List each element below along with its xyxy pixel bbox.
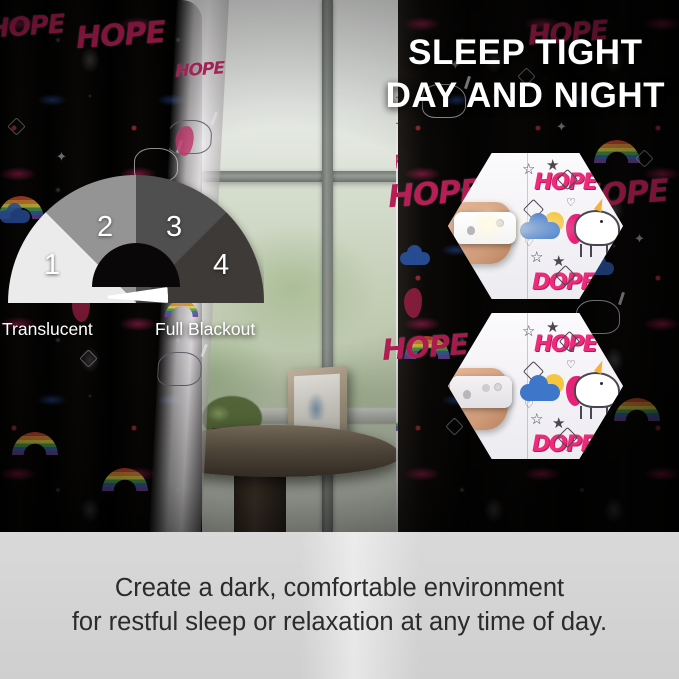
star-icon: ★ — [546, 320, 559, 335]
caption-band: Create a dark, comfortable environment f… — [0, 532, 679, 679]
star-icon: ✦ — [634, 232, 645, 245]
product-marketing-image: HOPE HOPE ✦ ✦ ✦ HOPE HOPE — [0, 0, 679, 679]
phone-logo-icon — [467, 226, 475, 235]
caption-line-2: for restful sleep or relaxation at any t… — [72, 606, 607, 640]
unicorn-leg — [590, 244, 592, 257]
gauge-segment-2-number: 2 — [97, 211, 113, 244]
star-icon: ★ — [552, 416, 565, 431]
headline-line-2: DAY AND NIGHT — [386, 75, 665, 118]
heart-icon: ♡ — [566, 360, 576, 371]
gauge-label-full-blackout: Full Blackout — [155, 319, 255, 340]
star-icon: ★ — [552, 254, 565, 269]
headline: SLEEP TIGHT DAY AND NIGHT — [386, 32, 665, 117]
heart-icon: ♡ — [566, 198, 576, 209]
curtain-print-word: HOPE — [75, 15, 166, 56]
caption-line-1: Create a dark, comfortable environment — [72, 572, 607, 606]
star-icon: ☆ — [530, 250, 543, 265]
cloud-icon — [520, 384, 560, 401]
cloud-icon — [520, 222, 560, 239]
unicorn-eye — [600, 220, 603, 223]
unicorn-leg — [590, 406, 592, 419]
phone — [450, 376, 512, 408]
gauge-segment-3-number: 3 — [166, 211, 182, 244]
phone — [454, 212, 516, 244]
phone-camera-lens-icon — [496, 219, 504, 227]
gauge-label-translucent: Translucent — [2, 319, 93, 340]
phone-logo-icon — [463, 390, 471, 399]
curtain-print-word: HOPE — [381, 327, 469, 367]
phone-flashlight-icon — [484, 220, 493, 229]
blackout-level-gauge: 1 2 3 4 — [8, 175, 264, 307]
gauge-segment-4-number: 4 — [213, 249, 229, 282]
unicorn-icon — [157, 352, 203, 386]
headline-line-1: SLEEP TIGHT — [386, 32, 665, 75]
picture-frame-artwork — [307, 392, 325, 420]
star-icon: ★ — [546, 158, 559, 173]
cloud-icon — [400, 252, 430, 265]
curtain-print-word: HOPE — [0, 9, 66, 44]
heart-icon: ♡ — [524, 238, 534, 249]
phone-flashlight-icon — [482, 384, 490, 392]
unicorn-eye — [600, 382, 603, 385]
curtain-print-word: HOPE — [175, 58, 224, 81]
unicorn-leg — [580, 406, 582, 419]
unicorn-icon — [574, 210, 620, 246]
star-icon: ✦ — [56, 150, 67, 163]
star-icon: ☆ — [530, 412, 543, 427]
star-icon: ☆ — [522, 162, 535, 177]
gauge-segment-1-number: 1 — [44, 249, 60, 282]
phone-camera-lens-icon — [494, 383, 502, 391]
unicorn-leg — [580, 244, 582, 257]
heart-icon: ♡ — [524, 400, 534, 411]
caption-text: Create a dark, comfortable environment f… — [72, 572, 607, 639]
star-icon: ☆ — [522, 324, 535, 339]
side-table-pedestal — [234, 468, 286, 532]
star-icon: ✦ — [556, 120, 567, 133]
